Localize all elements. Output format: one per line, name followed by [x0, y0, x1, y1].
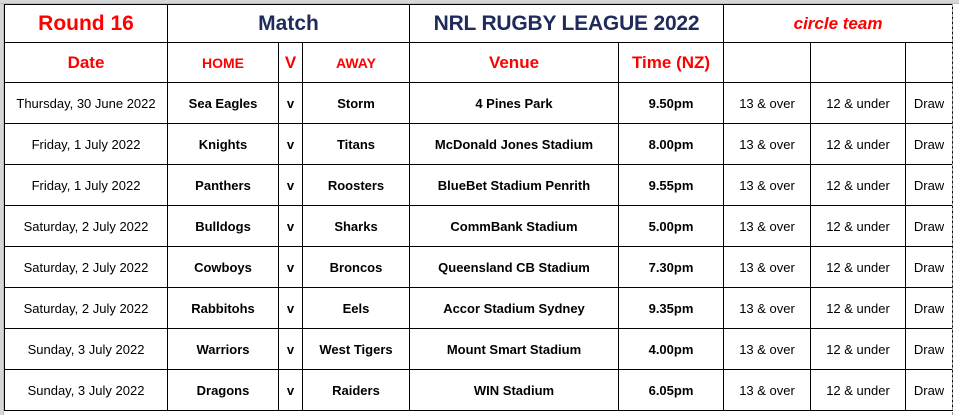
cell-time[interactable]: 9.50pm — [619, 83, 724, 124]
col-header-venue: Venue — [410, 43, 619, 83]
col-header-away: AWAY — [303, 43, 410, 83]
cell-home-team[interactable]: Knights — [168, 124, 279, 165]
col-header-v: V — [279, 43, 303, 83]
table-row[interactable]: Sunday, 3 July 2022 Warriors v West Tige… — [5, 329, 953, 370]
cell-home-team[interactable]: Sea Eagles — [168, 83, 279, 124]
cell-pick-13-and-over[interactable]: 13 & over — [724, 206, 811, 247]
table-row[interactable]: Thursday, 30 June 2022 Sea Eagles v Stor… — [5, 83, 953, 124]
cell-home-team[interactable]: Bulldogs — [168, 206, 279, 247]
cell-pick-13-and-over[interactable]: 13 & over — [724, 124, 811, 165]
cell-date[interactable]: Friday, 1 July 2022 — [5, 124, 168, 165]
cell-pick-12-and-under[interactable]: 12 & under — [811, 247, 906, 288]
cell-pick-12-and-under[interactable]: 12 & under — [811, 288, 906, 329]
cell-versus: v — [279, 83, 303, 124]
cell-away-team[interactable]: West Tigers — [303, 329, 410, 370]
table-row[interactable]: Friday, 1 July 2022 Panthers v Roosters … — [5, 165, 953, 206]
competition-banner-cell: NRL RUGBY LEAGUE 2022 — [410, 5, 724, 43]
cell-away-team[interactable]: Titans — [303, 124, 410, 165]
round-banner-cell: Round 16 — [5, 5, 168, 43]
cell-away-team[interactable]: Broncos — [303, 247, 410, 288]
cell-time[interactable]: 7.30pm — [619, 247, 724, 288]
table-body: Round 16 Match NRL RUGBY LEAGUE 2022 cir… — [5, 5, 953, 411]
cell-pick-13-and-over[interactable]: 13 & over — [724, 83, 811, 124]
cell-pick-12-and-under[interactable]: 12 & under — [811, 165, 906, 206]
cell-time[interactable]: 8.00pm — [619, 124, 724, 165]
cell-pick-draw[interactable]: Draw — [906, 288, 953, 329]
cell-pick-draw[interactable]: Draw — [906, 206, 953, 247]
cell-versus: v — [279, 288, 303, 329]
cell-pick-12-and-under[interactable]: 12 & under — [811, 83, 906, 124]
cell-versus: v — [279, 247, 303, 288]
cell-date[interactable]: Thursday, 30 June 2022 — [5, 83, 168, 124]
cell-home-team[interactable]: Rabbitohs — [168, 288, 279, 329]
cell-pick-13-and-over[interactable]: 13 & over — [724, 370, 811, 411]
cell-pick-draw[interactable]: Draw — [906, 83, 953, 124]
table-row[interactable]: Friday, 1 July 2022 Knights v Titans McD… — [5, 124, 953, 165]
col-header-date-label: Date — [68, 53, 105, 72]
cell-time[interactable]: 4.00pm — [619, 329, 724, 370]
cell-venue[interactable]: McDonald Jones Stadium — [410, 124, 619, 165]
round-label: Round 16 — [38, 12, 134, 35]
cell-venue[interactable]: CommBank Stadium — [410, 206, 619, 247]
cell-away-team[interactable]: Storm — [303, 83, 410, 124]
cell-pick-13-and-over[interactable]: 13 & over — [724, 288, 811, 329]
match-label: Match — [258, 12, 319, 35]
col-header-pick-over — [724, 43, 811, 83]
col-header-home: HOME — [168, 43, 279, 83]
table-row[interactable]: Saturday, 2 July 2022 Rabbitohs v Eels A… — [5, 288, 953, 329]
circle-team-banner-cell: circle team — [724, 5, 953, 43]
cell-pick-12-and-under[interactable]: 12 & under — [811, 124, 906, 165]
col-header-v-label: V — [285, 53, 296, 72]
col-header-pick-draw — [906, 43, 953, 83]
cell-date[interactable]: Saturday, 2 July 2022 — [5, 206, 168, 247]
cell-pick-13-and-over[interactable]: 13 & over — [724, 165, 811, 206]
cell-pick-12-and-under[interactable]: 12 & under — [811, 370, 906, 411]
cell-date[interactable]: Sunday, 3 July 2022 — [5, 329, 168, 370]
table-row[interactable]: Saturday, 2 July 2022 Bulldogs v Sharks … — [5, 206, 953, 247]
col-header-time-label: Time (NZ) — [632, 53, 710, 72]
table-row[interactable]: Saturday, 2 July 2022 Cowboys v Broncos … — [5, 247, 953, 288]
col-header-home-label: HOME — [202, 55, 244, 71]
cell-pick-12-and-under[interactable]: 12 & under — [811, 329, 906, 370]
cell-date[interactable]: Friday, 1 July 2022 — [5, 165, 168, 206]
draw-table: Round 16 Match NRL RUGBY LEAGUE 2022 cir… — [4, 4, 953, 411]
match-banner-cell: Match — [168, 5, 410, 43]
cell-date[interactable]: Sunday, 3 July 2022 — [5, 370, 168, 411]
cell-away-team[interactable]: Raiders — [303, 370, 410, 411]
cell-venue[interactable]: Queensland CB Stadium — [410, 247, 619, 288]
cell-venue[interactable]: 4 Pines Park — [410, 83, 619, 124]
cell-versus: v — [279, 370, 303, 411]
cell-pick-draw[interactable]: Draw — [906, 124, 953, 165]
table-row[interactable]: Sunday, 3 July 2022 Dragons v Raiders WI… — [5, 370, 953, 411]
spreadsheet-canvas: Round 16 Match NRL RUGBY LEAGUE 2022 cir… — [0, 0, 959, 415]
col-header-date: Date — [5, 43, 168, 83]
cell-away-team[interactable]: Eels — [303, 288, 410, 329]
cell-versus: v — [279, 165, 303, 206]
cell-pick-draw[interactable]: Draw — [906, 247, 953, 288]
cell-venue[interactable]: BlueBet Stadium Penrith — [410, 165, 619, 206]
cell-time[interactable]: 9.55pm — [619, 165, 724, 206]
cell-away-team[interactable]: Sharks — [303, 206, 410, 247]
cell-pick-draw[interactable]: Draw — [906, 165, 953, 206]
cell-versus: v — [279, 329, 303, 370]
column-header-row: Date HOME V AWAY Venue Time (NZ) — [5, 43, 953, 83]
cell-pick-12-and-under[interactable]: 12 & under — [811, 206, 906, 247]
cell-time[interactable]: 9.35pm — [619, 288, 724, 329]
cell-home-team[interactable]: Warriors — [168, 329, 279, 370]
col-header-away-label: AWAY — [336, 55, 376, 71]
cell-date[interactable]: Saturday, 2 July 2022 — [5, 288, 168, 329]
cell-time[interactable]: 5.00pm — [619, 206, 724, 247]
col-header-venue-label: Venue — [489, 53, 539, 72]
circle-team-label: circle team — [794, 14, 883, 33]
cell-venue[interactable]: WIN Stadium — [410, 370, 619, 411]
cell-versus: v — [279, 124, 303, 165]
cell-date[interactable]: Saturday, 2 July 2022 — [5, 247, 168, 288]
cell-pick-draw[interactable]: Draw — [906, 329, 953, 370]
cell-home-team[interactable]: Cowboys — [168, 247, 279, 288]
print-area-page-break — [952, 4, 953, 415]
cell-home-team[interactable]: Panthers — [168, 165, 279, 206]
cell-venue[interactable]: Mount Smart Stadium — [410, 329, 619, 370]
cell-versus: v — [279, 206, 303, 247]
competition-label: NRL RUGBY LEAGUE 2022 — [434, 12, 700, 35]
banner-row: Round 16 Match NRL RUGBY LEAGUE 2022 cir… — [5, 5, 953, 43]
cell-pick-13-and-over[interactable]: 13 & over — [724, 329, 811, 370]
cell-venue[interactable]: Accor Stadium Sydney — [410, 288, 619, 329]
col-header-time: Time (NZ) — [619, 43, 724, 83]
cell-away-team[interactable]: Roosters — [303, 165, 410, 206]
cell-pick-draw[interactable]: Draw — [906, 370, 953, 411]
cell-time[interactable]: 6.05pm — [619, 370, 724, 411]
col-header-pick-under — [811, 43, 906, 83]
cell-pick-13-and-over[interactable]: 13 & over — [724, 247, 811, 288]
cell-home-team[interactable]: Dragons — [168, 370, 279, 411]
